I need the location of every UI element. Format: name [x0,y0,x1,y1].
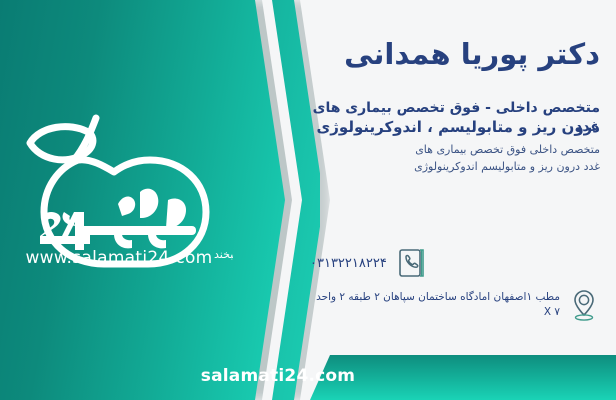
svg-text:به راحتی یک لبخند: به راحتی یک لبخند [214,248,233,261]
location-pin-icon [570,288,600,322]
business-card: به راحتی یک لبخند www.salamati24.com دکت… [0,0,616,400]
specialty-sub-line-2: غدد درون ریز و متابولیسم اندوکرینولوژی [310,158,600,175]
specialty-line-2: درون ریز و متابولیسم ، اندوکرینولوژی [310,117,600,137]
address-row[interactable]: مطب ۱اصفهان امادگاه ساختمان سپاهان ۲ طبق… [310,288,600,322]
phone-row[interactable]: ۰۳۱۳۲۲۱۸۲۲۴ [310,246,600,280]
phone-number: ۰۳۱۳۲۲۱۸۲۲۴ [310,256,387,271]
logo-website-url: www.salamati24.com [24,248,214,268]
specialty-sub: متخصص داخلی فوق تخصص بیماری های غدد درون… [310,141,600,175]
phone-book-icon [397,246,427,280]
content-area: دکتر پوریا همدانی متخصص داخلی - فوق تخصص… [300,0,616,400]
specialty-sub-line-1: متخصص داخلی فوق تخصص بیماری های [310,141,600,158]
doctor-name: دکتر پوریا همدانی [310,36,600,72]
address-text: مطب ۱اصفهان امادگاه ساختمان سپاهان ۲ طبق… [310,290,560,319]
footer-website[interactable]: salamati24.com [0,366,616,386]
